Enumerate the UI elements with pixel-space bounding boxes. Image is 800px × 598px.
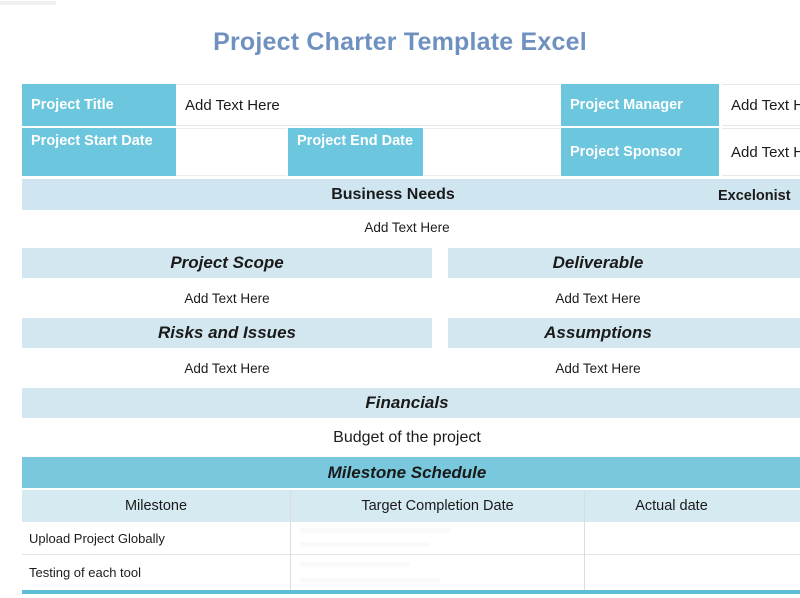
- milestone-schedule-heading-text: Milestone Schedule: [328, 463, 487, 483]
- financials-body[interactable]: Budget of the project: [22, 422, 800, 454]
- project-end-date-label: Project End Date: [288, 128, 423, 176]
- actual-date-cell[interactable]: [585, 522, 800, 555]
- scan-artifact: [300, 528, 450, 533]
- project-start-date-value[interactable]: [176, 128, 287, 176]
- table-row[interactable]: Testing of each tool: [22, 555, 290, 590]
- excelonist-note: Excelonist: [718, 188, 791, 204]
- project-sponsor-label-text: Project Sponsor: [570, 144, 682, 161]
- project-manager-value-text: Add Text Here: [731, 97, 800, 114]
- deliverable-body[interactable]: Add Text Here: [448, 284, 800, 312]
- project-end-date-label-text: Project End Date: [297, 133, 413, 150]
- column-header-actual-date: Actual date: [585, 490, 800, 522]
- project-charter-template-page: Project Charter Template Excel Project T…: [0, 0, 800, 598]
- business-needs-body-text: Add Text Here: [364, 220, 449, 235]
- section-heading-risks-and-issues: Risks and Issues: [22, 318, 432, 348]
- actual-date-cell[interactable]: [585, 555, 800, 590]
- column-header-target-completion-date: Target Completion Date: [291, 490, 584, 522]
- table-column-divider: [290, 490, 291, 590]
- project-manager-label-text: Project Manager: [570, 97, 683, 114]
- business-needs-body[interactable]: Add Text Here: [22, 212, 800, 242]
- deliverable-heading-text: Deliverable: [553, 253, 644, 273]
- table-row[interactable]: Upload Project Globally: [22, 522, 290, 555]
- section-heading-assumptions: Assumptions: [448, 318, 800, 348]
- project-scope-body-text: Add Text Here: [184, 291, 269, 306]
- scan-artifact: [300, 562, 410, 567]
- scan-artifact: [300, 542, 430, 547]
- risks-and-issues-body-text: Add Text Here: [184, 361, 269, 376]
- assumptions-heading-text: Assumptions: [544, 323, 652, 343]
- section-heading-financials: Financials: [22, 388, 800, 418]
- section-heading-deliverable: Deliverable: [448, 248, 800, 278]
- project-sponsor-label: Project Sponsor: [561, 128, 719, 176]
- section-heading-project-scope: Project Scope: [22, 248, 432, 278]
- bottom-accent-rule: [22, 590, 800, 594]
- scan-artifact: [300, 578, 440, 583]
- project-title-value-text: Add Text Here: [185, 97, 280, 114]
- project-manager-value[interactable]: Add Text Here: [722, 84, 800, 126]
- page-title: Project Charter Template Excel: [0, 28, 800, 57]
- section-heading-business-needs: Business Needs: [22, 179, 800, 210]
- business-needs-heading-text: Business Needs: [331, 186, 455, 204]
- column-header-milestone-text: Milestone: [125, 498, 187, 514]
- column-header-actual-date-text: Actual date: [635, 498, 708, 514]
- project-scope-heading-text: Project Scope: [170, 253, 283, 273]
- assumptions-body-text: Add Text Here: [555, 361, 640, 376]
- project-scope-body[interactable]: Add Text Here: [22, 284, 432, 312]
- target-completion-date-cell[interactable]: [291, 522, 584, 555]
- assumptions-body[interactable]: Add Text Here: [448, 354, 800, 382]
- milestone-cell-text: Testing of each tool: [29, 565, 141, 580]
- section-heading-milestone-schedule: Milestone Schedule: [22, 457, 800, 488]
- risks-and-issues-body[interactable]: Add Text Here: [22, 354, 432, 382]
- deliverable-body-text: Add Text Here: [555, 291, 640, 306]
- financials-body-text: Budget of the project: [333, 429, 481, 447]
- project-manager-label: Project Manager: [561, 84, 719, 126]
- milestone-cell-text: Upload Project Globally: [29, 531, 165, 546]
- financials-heading-text: Financials: [365, 393, 448, 413]
- project-title-label-text: Project Title: [31, 97, 114, 114]
- table-column-divider: [584, 490, 585, 590]
- column-header-milestone: Milestone: [22, 490, 290, 522]
- project-start-date-label: Project Start Date: [22, 128, 176, 176]
- target-completion-date-cell[interactable]: [291, 555, 584, 590]
- project-title-value[interactable]: Add Text Here: [176, 84, 560, 126]
- project-end-date-value[interactable]: [424, 128, 560, 176]
- top-edge-artifact: [0, 1, 56, 5]
- project-start-date-label-text: Project Start Date: [31, 133, 153, 150]
- risks-and-issues-heading-text: Risks and Issues: [158, 323, 296, 343]
- project-title-label: Project Title: [22, 84, 176, 126]
- project-sponsor-value-text: Add Text Here: [731, 144, 800, 161]
- column-header-target-completion-date-text: Target Completion Date: [361, 498, 513, 514]
- project-sponsor-value[interactable]: Add Text Here: [722, 128, 800, 176]
